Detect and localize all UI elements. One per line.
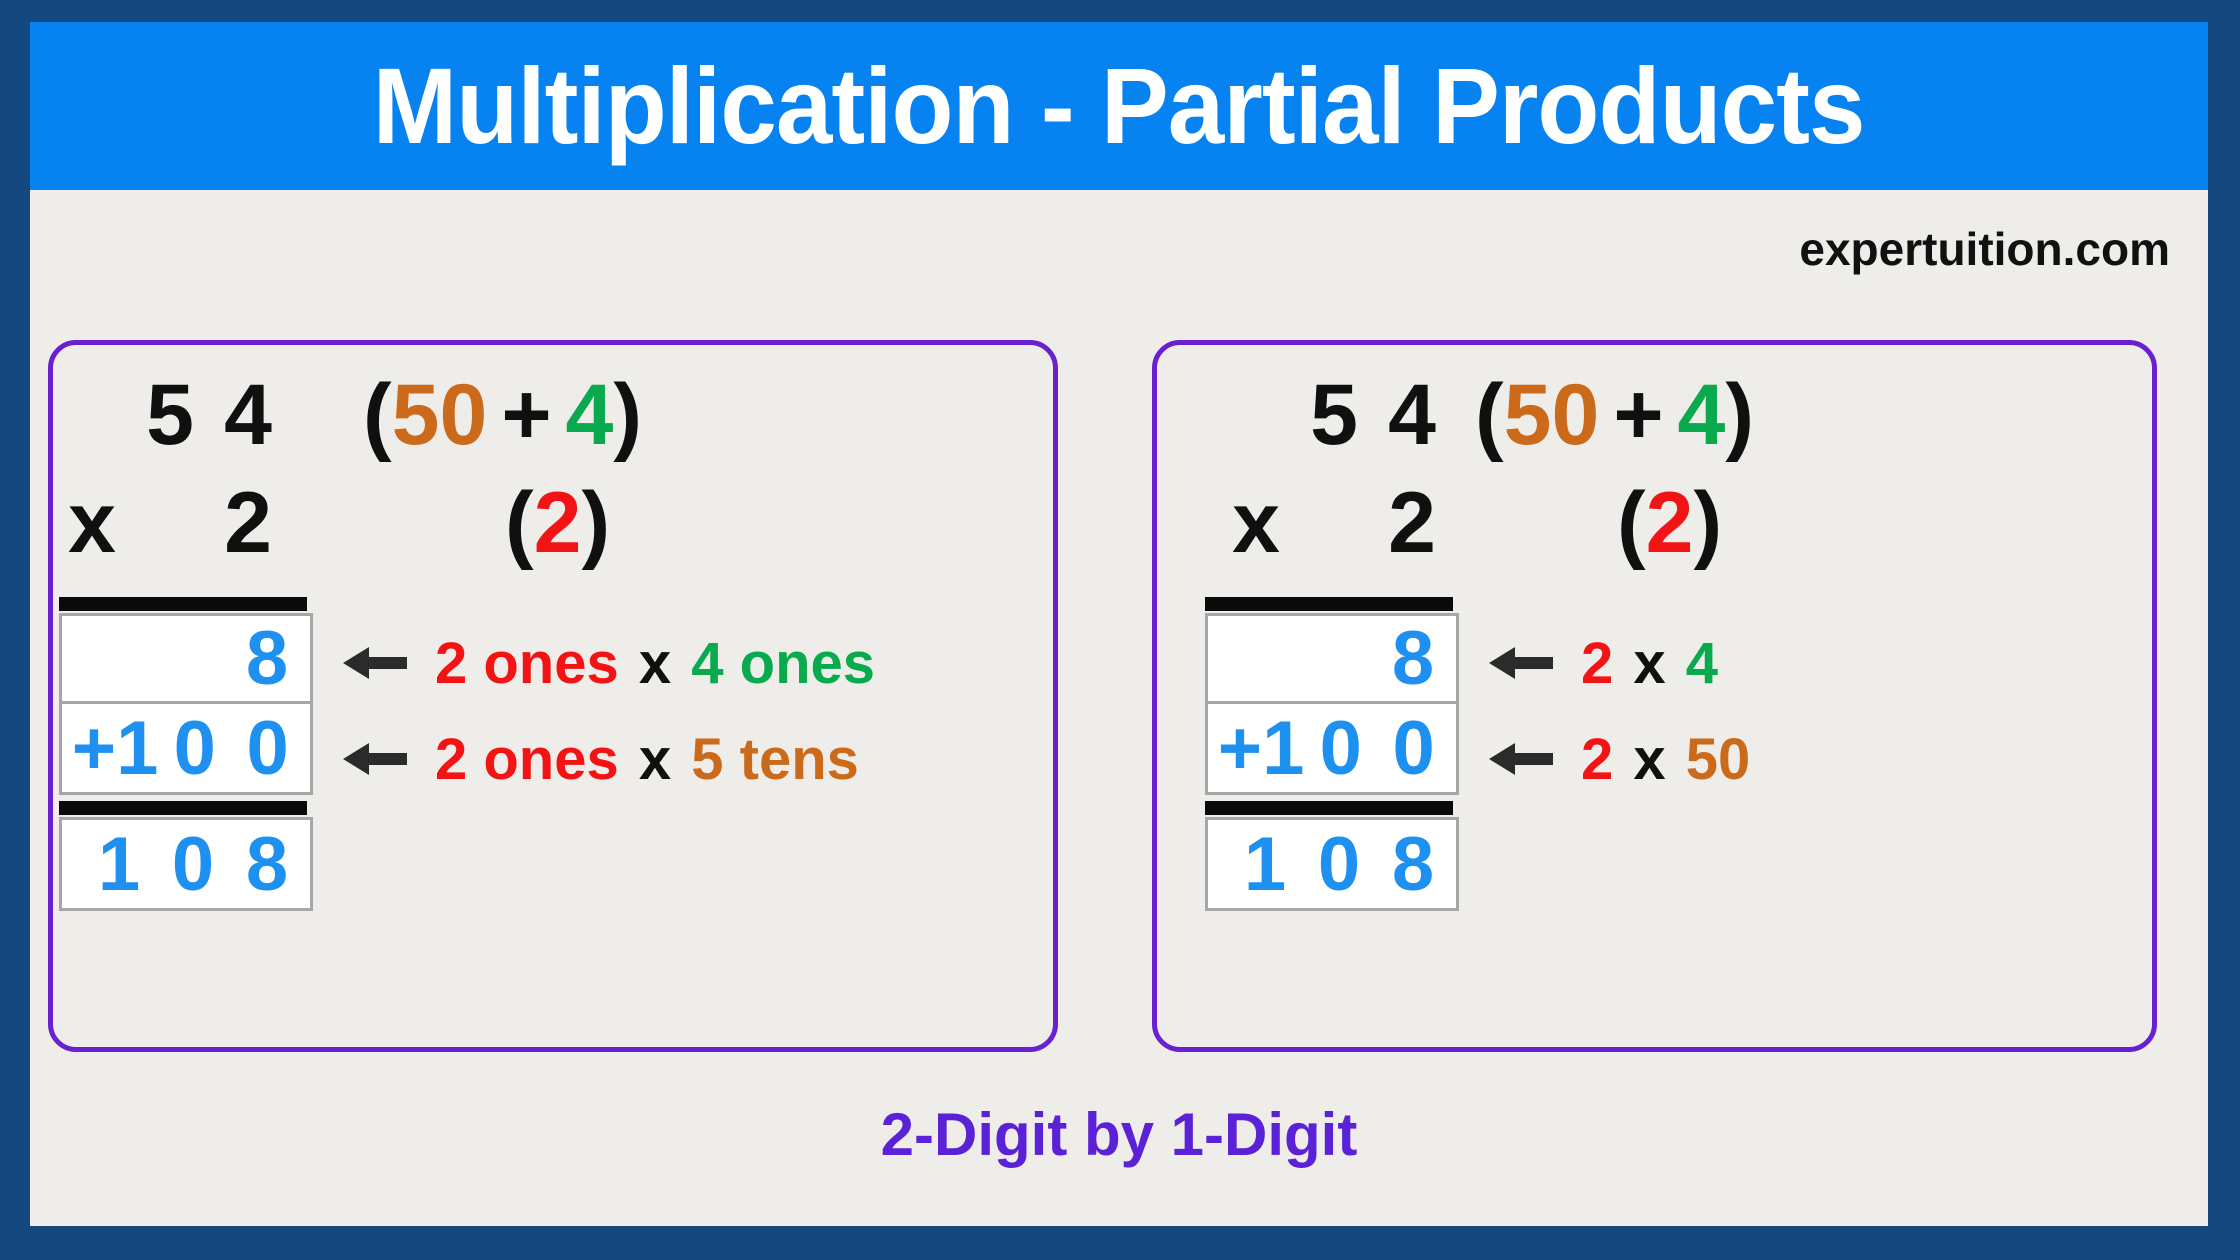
- rule-line-above-total-left: [59, 801, 307, 815]
- expanded-plus-sign-left: +: [501, 366, 551, 465]
- total-row-left: 1 0 8: [62, 820, 310, 908]
- total-tens-left: 0: [156, 821, 230, 908]
- partial-product-row-1-right: 8: [1208, 616, 1456, 704]
- multiplicand-tens-digit-right: 5: [1295, 366, 1373, 465]
- expanded-form-top-left: ( 50 + 4 ): [363, 367, 642, 463]
- multiplier-row-left: x 2: [53, 475, 287, 571]
- total-tens-right: 0: [1302, 821, 1376, 908]
- annot1-operator-left: x: [639, 631, 671, 696]
- rule-line-above-partials-left: [59, 597, 307, 611]
- annotation-1-label-right: 2 x 4: [1579, 630, 1720, 697]
- footer-container: 2-Digit by 1-Digit: [30, 1100, 2208, 1169]
- multiply-operator-left: x: [53, 474, 131, 573]
- expanded-ones-value-right: 4: [1678, 366, 1726, 465]
- calculation-area-left: 8 +1 0 0 1 0: [59, 597, 313, 911]
- expanded-ones-value-left: 4: [566, 366, 614, 465]
- poster-inner-canvas: Multiplication - Partial Products expert…: [30, 22, 2208, 1226]
- multiplier-digit-right: 2: [1373, 474, 1451, 573]
- left-arrow-icon: [1489, 643, 1553, 683]
- expanded-form-bottom-right: ( 2 ): [1617, 475, 1722, 571]
- calculation-area-right: 8 +1 0 0 1 0: [1205, 597, 1459, 911]
- annot2-operator-left: x: [639, 727, 671, 792]
- annotation-1-left: 2 ones x 4 ones: [343, 619, 877, 707]
- expanded-close-paren-bottom-left: ): [581, 474, 610, 573]
- multiplicand-row-right: 5 4: [1217, 367, 1451, 463]
- expanded-open-paren-bottom-right: (: [1617, 474, 1646, 573]
- pp2-hundreds-left: +1: [62, 705, 158, 792]
- partial-products-box-right: 8 +1 0 0: [1205, 613, 1459, 795]
- expanded-close-paren-top-left: ): [613, 366, 642, 465]
- annot1-left-operand-left: 2 ones: [435, 631, 619, 696]
- multiplicand-row-left: 5 4: [53, 367, 287, 463]
- pp2-hundreds-right: +1: [1208, 705, 1304, 792]
- annot2-operator-right: x: [1633, 727, 1665, 792]
- watermark-text: expertuition.com: [1799, 222, 2170, 276]
- expanded-open-paren-top-left: (: [363, 366, 392, 465]
- multiplier-row-right: x 2: [1217, 475, 1451, 571]
- pp2-ones-right: 0: [1377, 705, 1450, 792]
- footer-subtitle: 2-Digit by 1-Digit: [881, 1101, 1358, 1168]
- rule-line-above-total-right: [1205, 801, 1453, 815]
- left-arrow-icon: [343, 739, 407, 779]
- expanded-plus-sign-right: +: [1613, 366, 1663, 465]
- rule-line-above-partials-right: [1205, 597, 1453, 611]
- expanded-close-paren-bottom-right: ): [1693, 474, 1722, 573]
- expanded-tens-value-right: 50: [1504, 366, 1600, 465]
- partial-products-box-left: 8 +1 0 0: [59, 613, 313, 795]
- annot1-operator-right: x: [1633, 631, 1665, 696]
- annotation-2-right: 2 x 50: [1489, 715, 1752, 803]
- annot2-right-operand-right: 50: [1686, 727, 1751, 792]
- panel-left-body: 5 4 x 2 ( 50 + 4 ): [53, 345, 1053, 1047]
- expanded-open-paren-top-right: (: [1475, 366, 1504, 465]
- panels-container: 5 4 x 2 ( 50 + 4 ): [30, 340, 2208, 1062]
- annotation-2-label-right: 2 x 50: [1579, 726, 1752, 793]
- partial-product-row-2-left: +1 0 0: [62, 704, 310, 792]
- annot1-right-operand-right: 4: [1686, 631, 1718, 696]
- pp2-tens-right: 0: [1304, 705, 1377, 792]
- partial-product-row-2-right: +1 0 0: [1208, 704, 1456, 792]
- total-ones-right: 8: [1376, 821, 1450, 908]
- partial-product-row-1-left: 8: [62, 616, 310, 704]
- pp1-ones-left: 8: [230, 615, 304, 702]
- pp1-ones-right: 8: [1376, 615, 1450, 702]
- header-banner: Multiplication - Partial Products: [30, 22, 2208, 190]
- left-arrow-icon: [1489, 739, 1553, 779]
- worked-example-panel-right: 5 4 x 2 ( 50 + 4 ): [1152, 340, 2157, 1052]
- multiplier-digit-left: 2: [209, 474, 287, 573]
- expanded-multiplier-value-right: 2: [1646, 474, 1694, 573]
- annotation-1-right: 2 x 4: [1489, 619, 1720, 707]
- multiplicand-tens-digit-left: 5: [131, 366, 209, 465]
- expanded-open-paren-bottom-left: (: [505, 474, 534, 573]
- poster-root: Multiplication - Partial Products expert…: [0, 0, 2240, 1260]
- annot1-left-operand-right: 2: [1581, 631, 1613, 696]
- expanded-form-top-right: ( 50 + 4 ): [1475, 367, 1754, 463]
- total-hundreds-left: 1: [82, 821, 156, 908]
- pp2-ones-left: 0: [231, 705, 304, 792]
- total-row-right: 1 0 8: [1208, 820, 1456, 908]
- page-title: Multiplication - Partial Products: [373, 52, 1865, 160]
- annotation-1-label-left: 2 ones x 4 ones: [433, 630, 877, 697]
- annotation-2-label-left: 2 ones x 5 tens: [433, 726, 861, 793]
- multiplicand-ones-digit-right: 4: [1373, 366, 1451, 465]
- expanded-tens-value-left: 50: [392, 366, 488, 465]
- left-arrow-icon: [343, 643, 407, 683]
- pp2-tens-left: 0: [158, 705, 231, 792]
- total-box-left: 1 0 8: [59, 817, 313, 911]
- worked-example-panel-left: 5 4 x 2 ( 50 + 4 ): [48, 340, 1058, 1052]
- annot2-left-operand-left: 2 ones: [435, 727, 619, 792]
- annot2-right-operand-left: 5 tens: [691, 727, 859, 792]
- expanded-close-paren-top-right: ): [1725, 366, 1754, 465]
- annotation-2-left: 2 ones x 5 tens: [343, 715, 861, 803]
- total-ones-left: 8: [230, 821, 304, 908]
- total-hundreds-right: 1: [1228, 821, 1302, 908]
- annot2-left-operand-right: 2: [1581, 727, 1613, 792]
- multiply-operator-right: x: [1217, 474, 1295, 573]
- expanded-multiplier-value-left: 2: [534, 474, 582, 573]
- multiplicand-ones-digit-left: 4: [209, 366, 287, 465]
- annot1-right-operand-left: 4 ones: [691, 631, 875, 696]
- total-box-right: 1 0 8: [1205, 817, 1459, 911]
- expanded-form-bottom-left: ( 2 ): [505, 475, 610, 571]
- panel-right-body: 5 4 x 2 ( 50 + 4 ): [1157, 345, 2152, 1047]
